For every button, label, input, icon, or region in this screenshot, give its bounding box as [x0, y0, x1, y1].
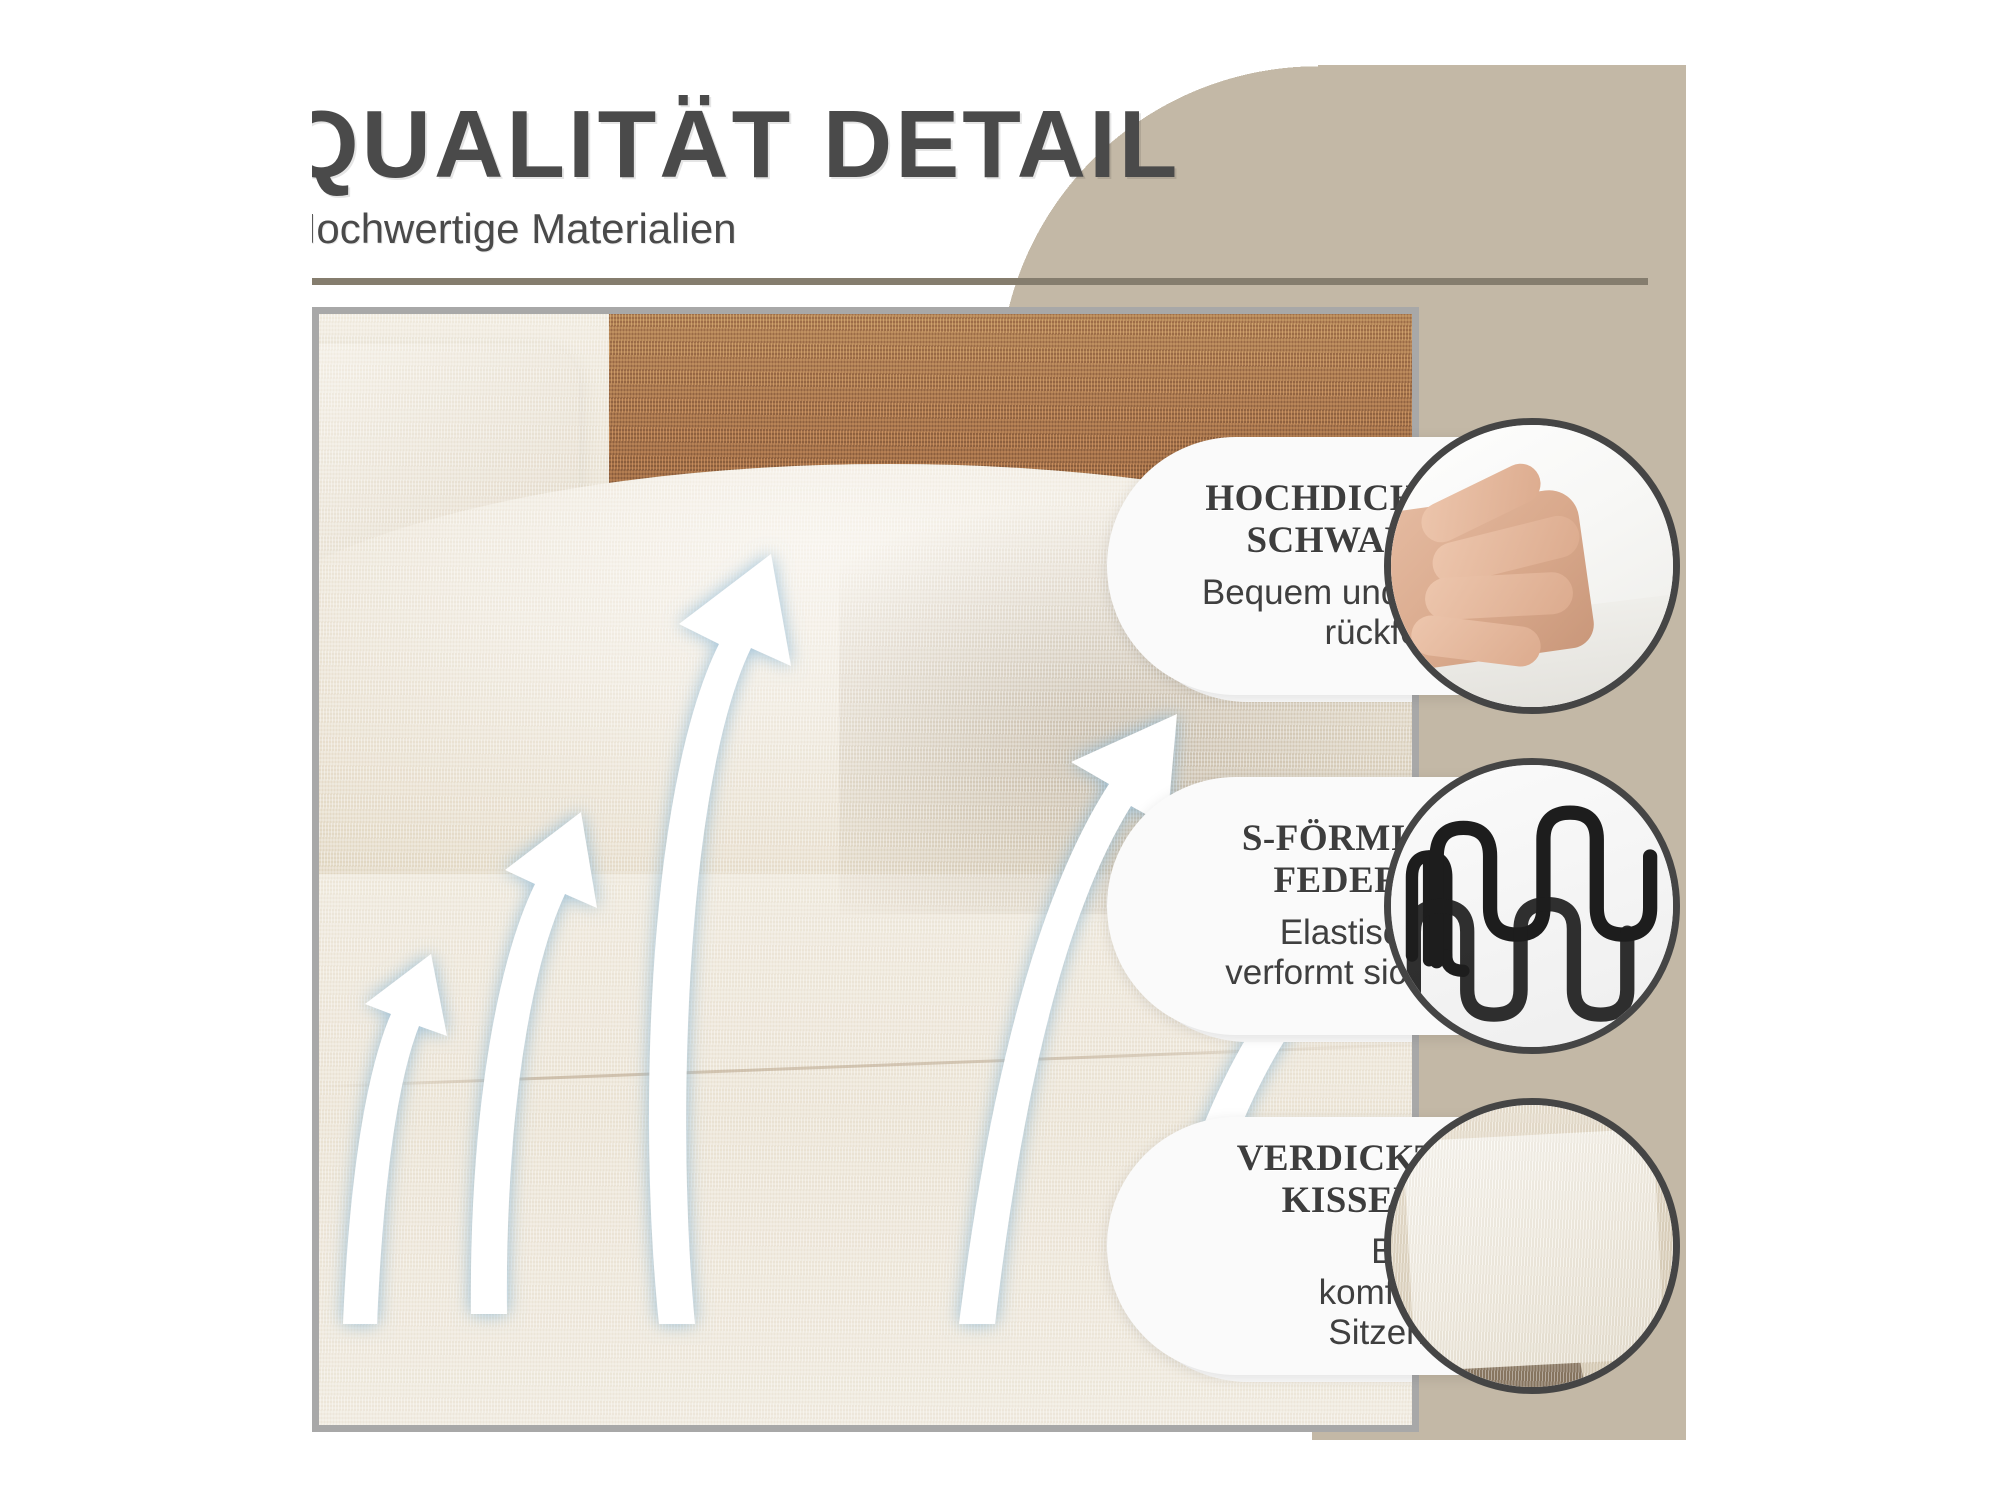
arrow-2-icon — [471, 812, 597, 1314]
feature-card-3-icon — [1384, 1098, 1680, 1394]
feature-card-2-icon — [1384, 758, 1680, 1054]
header-divider — [312, 278, 1648, 285]
arrow-1-icon — [343, 954, 447, 1324]
content-frame: QUALITÄT DETAIL QUALITÄT DETAIL Hochwert… — [312, 0, 1686, 1440]
page-subtitle: Hochwertige Materialien — [312, 205, 737, 253]
arrow-3-icon — [649, 554, 791, 1324]
page-title-overlay: QUALITÄT DETAIL — [312, 90, 1686, 200]
s-springs-icon — [1391, 765, 1673, 1047]
cushion-texture — [1391, 1105, 1673, 1387]
header: QUALITÄT DETAIL QUALITÄT DETAIL Hochwert… — [312, 0, 1686, 300]
hand-finger-3 — [1424, 571, 1574, 621]
feature-card-1-icon — [1384, 418, 1680, 714]
infographic-canvas: QUALITÄT DETAIL QUALITÄT DETAIL Hochwert… — [0, 0, 2000, 1500]
